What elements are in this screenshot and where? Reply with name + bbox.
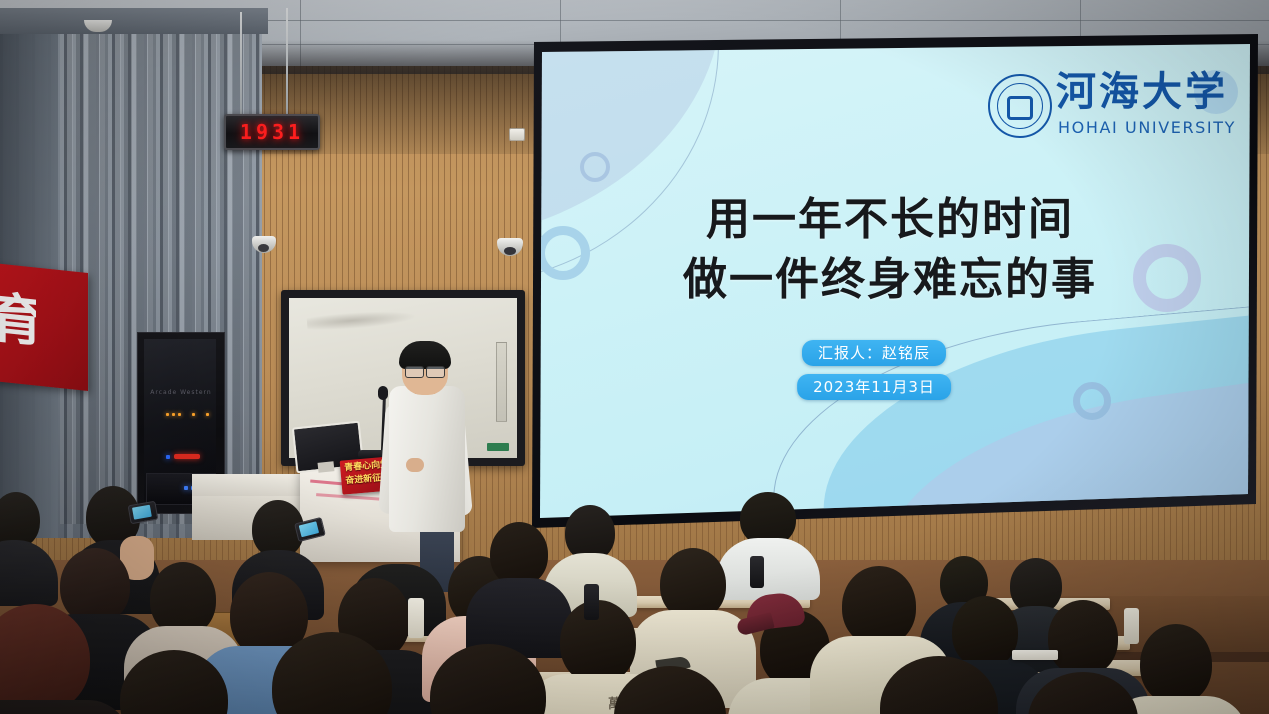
presenter-hand <box>406 458 424 472</box>
presenter-badge: 汇报人：赵铭辰 <box>802 340 946 366</box>
head <box>490 522 548 586</box>
slide-title-line-1: 用一年不长的时间 <box>580 190 1200 250</box>
clock-display: 1931 <box>226 120 318 144</box>
hohai-seal-icon <box>988 74 1052 138</box>
presenter-glasses-right <box>426 366 445 378</box>
slide-title: 用一年不长的时间 做一件终身难忘的事 <box>580 190 1200 310</box>
red-banner: 育 <box>0 263 88 391</box>
rack-led <box>178 413 181 416</box>
rack-led-blue-2 <box>184 486 188 490</box>
water-bottle[interactable] <box>750 556 764 588</box>
date-badge: 2023年11月3日 <box>797 374 951 400</box>
lecture-hall-photo: 1931 育 Arcade Western <box>0 0 1269 714</box>
rack-led-blue <box>166 455 170 459</box>
rack-brand-label: Arcade Western <box>146 389 216 396</box>
water-bottle[interactable] <box>1124 608 1139 644</box>
decor-ring-1 <box>580 152 610 182</box>
head <box>150 562 216 636</box>
head <box>842 566 916 646</box>
clock-rod-right <box>286 8 288 116</box>
microphone-icon <box>378 386 388 400</box>
digital-clock: 1931 <box>224 114 320 150</box>
whiteboard-badge <box>487 443 509 451</box>
logo-chinese-name: 河海大学 <box>1056 68 1234 116</box>
screen-surface: 河海大学 HOHAI UNIVERSITY 用一年不长的时间 做一件终身难忘的事… <box>520 34 1262 528</box>
whiteboard-smudge <box>307 308 418 332</box>
podium-monitor-stand <box>318 461 335 473</box>
banner-char: 育 <box>0 287 36 354</box>
slide: 河海大学 HOHAI UNIVERSITY 用一年不长的时间 做一件终身难忘的事… <box>520 34 1262 528</box>
slide-title-line-2: 做一件终身难忘的事 <box>580 250 1200 310</box>
presentation-screen[interactable]: 河海大学 HOHAI UNIVERSITY 用一年不长的时间 做一件终身难忘的事… <box>520 34 1262 528</box>
clock-rod-left <box>240 12 242 116</box>
rack-status-bar <box>174 454 200 459</box>
water-bottle[interactable] <box>584 584 599 620</box>
presenter-shirt <box>389 386 465 532</box>
hohai-university-logo: 河海大学 HOHAI UNIVERSITY <box>988 68 1233 146</box>
head <box>370 512 424 572</box>
presenter-glasses-left <box>405 366 424 378</box>
decor-ring-4 <box>1073 382 1111 420</box>
notebook-on-desk[interactable] <box>1012 650 1058 660</box>
head <box>952 596 1018 668</box>
logo-english-name: HOHAI UNIVERSITY <box>1058 118 1236 137</box>
rack-led <box>166 413 169 416</box>
presenter-hair <box>399 341 451 369</box>
head <box>60 548 130 624</box>
rack-led <box>172 413 175 416</box>
head <box>1048 600 1118 676</box>
water-bottle[interactable] <box>408 598 424 638</box>
curtain-rail <box>0 8 268 34</box>
decor-wave-bottomright-line <box>760 304 1262 528</box>
whiteboard-control-strip[interactable] <box>496 342 507 422</box>
shoulders <box>716 538 820 600</box>
rack-led <box>192 413 195 416</box>
head <box>1140 624 1212 704</box>
rack-led <box>206 413 209 416</box>
